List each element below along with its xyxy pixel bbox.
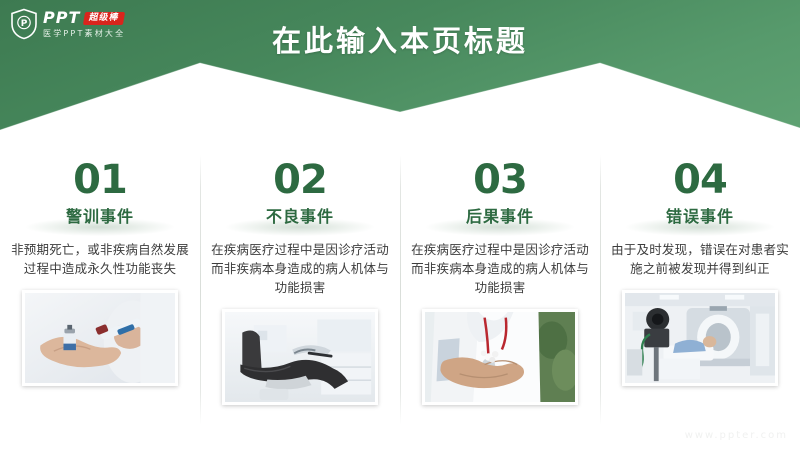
column-subtitle: 错误事件	[666, 208, 734, 226]
column-body-text: 在疾病医疗过程中是因诊疗活动而非疾病本身造成的病人机体与功能损害	[211, 240, 389, 297]
page-title: 在此输入本页标题	[0, 18, 800, 60]
column-subtitle-wrap: 不良事件	[220, 203, 380, 231]
footer-watermark: www.ppter.com	[685, 430, 788, 441]
slide-canvas: P PPT 超级棒 医学PPT素材大全 在此输入本页标题 01 警训事件 非预期…	[0, 0, 800, 450]
column-number: 03	[473, 158, 527, 202]
column-photo-2[interactable]	[222, 309, 378, 405]
content-columns: 01 警训事件 非预期死亡，或非疾病自然发展过程中造成永久性功能丧失	[0, 150, 800, 435]
column-number: 04	[673, 158, 727, 202]
column-subtitle-wrap: 警训事件	[20, 203, 180, 231]
column-subtitle: 警训事件	[66, 208, 134, 226]
content-column-2: 02 不良事件 在疾病医疗过程中是因诊疗活动而非疾病本身造成的病人机体与功能损害	[200, 150, 400, 435]
column-number: 01	[73, 158, 127, 202]
column-subtitle-wrap: 后果事件	[420, 203, 580, 231]
column-photo-3[interactable]	[422, 309, 578, 405]
column-subtitle-wrap: 错误事件	[620, 203, 780, 231]
column-body-text: 非预期死亡，或非疾病自然发展过程中造成永久性功能丧失	[11, 240, 189, 278]
column-subtitle: 后果事件	[466, 208, 534, 226]
photo-dental-chair-clinic	[225, 312, 375, 402]
slide-header: P PPT 超级棒 医学PPT素材大全 在此输入本页标题	[0, 0, 800, 132]
column-body-text: 在疾病医疗过程中是因诊疗活动而非疾病本身造成的病人机体与功能损害	[411, 240, 589, 297]
content-column-3: 03 后果事件 在疾病医疗过程中是因诊疗活动而非疾病本身造成的病人机体与功能损害	[400, 150, 600, 435]
photo-ct-scanner-with-patient	[625, 293, 775, 383]
content-column-4: 04 错误事件 由于及时发现，错误在对患者实施之前被发现并得到纠正	[600, 150, 800, 435]
photo-doctor-holding-pills	[425, 312, 575, 402]
column-subtitle: 不良事件	[266, 208, 334, 226]
column-photo-1[interactable]	[22, 290, 178, 386]
content-column-1: 01 警训事件 非预期死亡，或非疾病自然发展过程中造成永久性功能丧失	[0, 150, 200, 435]
column-body-text: 由于及时发现，错误在对患者实施之前被发现并得到纠正	[611, 240, 789, 278]
column-number: 02	[273, 158, 327, 202]
column-photo-4[interactable]	[622, 290, 778, 386]
photo-vaccine-vial-and-syringe-in-hands	[25, 293, 175, 383]
